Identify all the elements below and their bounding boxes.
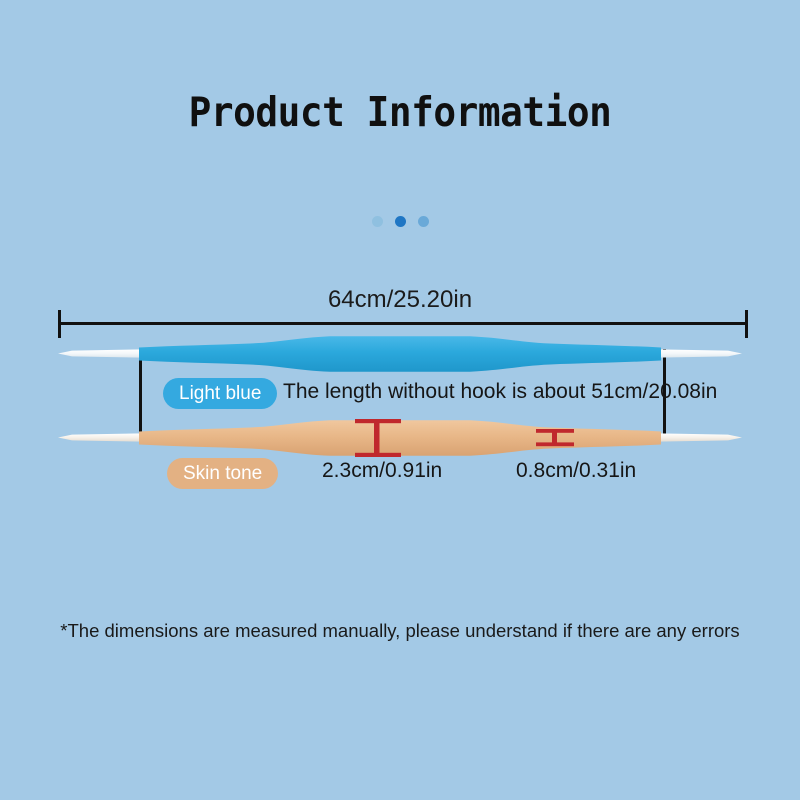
carousel-dot-1[interactable] bbox=[372, 216, 383, 227]
carousel-dot-3[interactable] bbox=[418, 216, 429, 227]
variant-badge-light-blue-label: Light blue bbox=[179, 383, 261, 405]
hook-tip-left-skin bbox=[58, 433, 142, 441]
width-narrow-label: 0.8cm/0.31in bbox=[516, 459, 636, 483]
measurement-bracket-line bbox=[58, 322, 748, 325]
carousel-dot-2[interactable] bbox=[395, 216, 406, 227]
hook-tip-left-blue bbox=[58, 349, 142, 357]
disclaimer-text: *The dimensions are measured manually, p… bbox=[0, 620, 800, 642]
without-hook-note: The length without hook is about 51cm/20… bbox=[283, 380, 717, 404]
strap-illustration-light-blue bbox=[0, 332, 800, 376]
product-information-graphic: Product Information 64cm/25.20in bbox=[0, 0, 800, 800]
page-title: Product Information bbox=[32, 88, 768, 136]
hook-tip-right-blue bbox=[658, 349, 742, 357]
strap-illustration-skin-tone bbox=[0, 416, 800, 460]
variant-badge-skin-tone-label: Skin tone bbox=[183, 463, 262, 485]
strap-body-blue bbox=[139, 336, 661, 372]
hook-tip-right-skin bbox=[658, 433, 742, 441]
carousel-dots bbox=[0, 216, 800, 227]
total-length-label: 64cm/25.20in bbox=[0, 286, 800, 314]
strap-body-skin bbox=[139, 420, 661, 456]
variant-badge-skin-tone[interactable]: Skin tone bbox=[167, 458, 278, 489]
variant-badge-light-blue[interactable]: Light blue bbox=[163, 378, 277, 409]
width-wide-label: 2.3cm/0.91in bbox=[322, 459, 442, 483]
